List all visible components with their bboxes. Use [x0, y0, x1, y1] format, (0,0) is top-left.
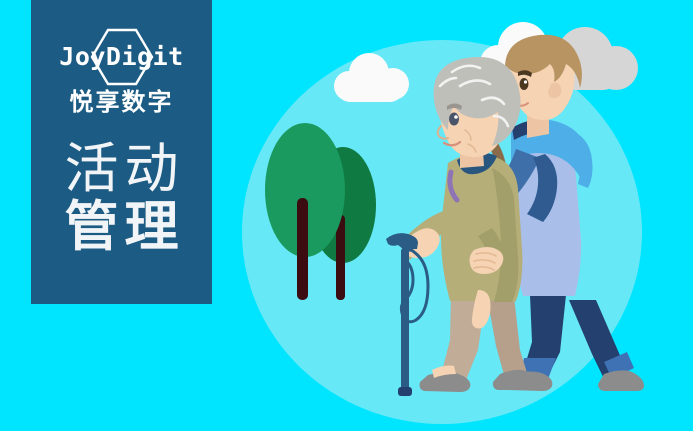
page-title-line2: 管理	[31, 198, 212, 256]
page-title: 活动 管理	[31, 140, 212, 257]
young-man-eye-glint	[524, 80, 527, 83]
cane-tip	[398, 387, 412, 396]
title-panel: JoyDigit 悦享数字 活动 管理	[31, 0, 212, 304]
young-man-eye	[520, 78, 529, 90]
page-title-line1: 活动	[31, 140, 212, 198]
woman-eye-glint	[454, 115, 458, 119]
woman-eye	[449, 113, 459, 126]
poster-canvas: JoyDigit 悦享数字 活动 管理	[0, 0, 693, 431]
brand-logo: JoyDigit	[31, 28, 212, 90]
brand-wordmark: JoyDigit	[31, 44, 212, 69]
brand-chinese-name: 悦享数字	[31, 90, 212, 116]
